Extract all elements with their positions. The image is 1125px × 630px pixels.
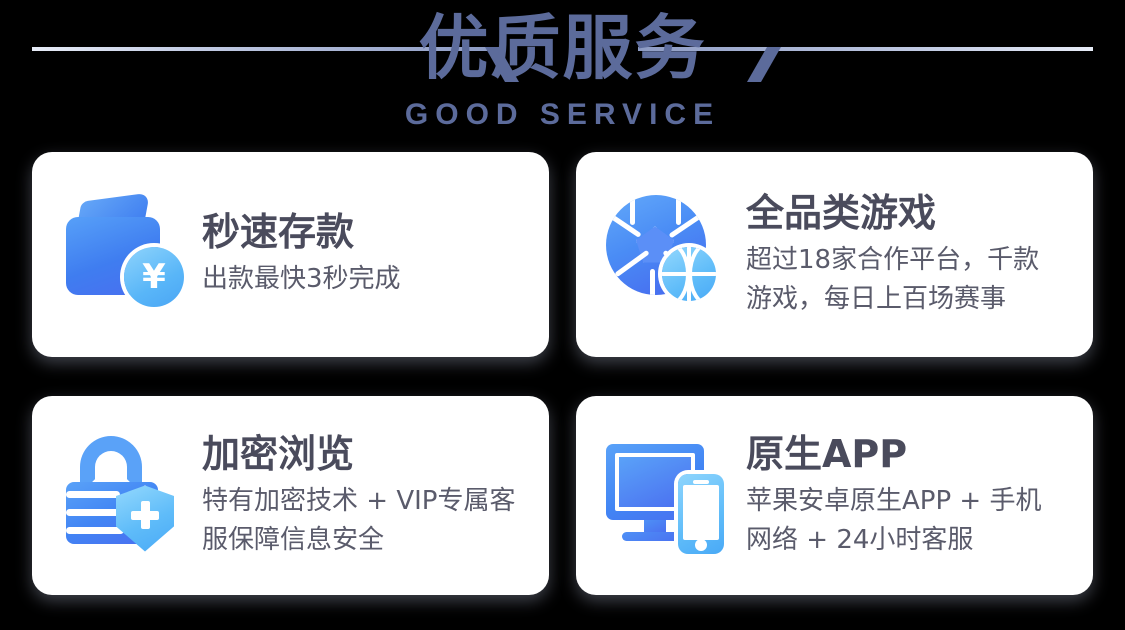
card-description-line-1: 特有加密技术 + VIP专属客 bbox=[202, 486, 515, 516]
card-description-line-1: 出款最快3秒完成 bbox=[202, 264, 401, 294]
card-title: 秒速存款 bbox=[202, 210, 539, 254]
basketball-icon bbox=[662, 247, 716, 301]
card-description-line-2: 游戏，每日上百场赛事 bbox=[746, 280, 1083, 319]
card-title: 全品类游戏 bbox=[746, 191, 1083, 235]
card-description: 苹果安卓原生APP + 手机 网络 + 24小时客服 bbox=[746, 482, 1083, 560]
card-text-block: 全品类游戏 超过18家合作平台，千款 游戏，每日上百场赛事 bbox=[746, 191, 1083, 319]
feature-card-native-app[interactable]: 原生APP 苹果安卓原生APP + 手机 网络 + 24小时客服 bbox=[576, 396, 1093, 595]
card-text-block: 加密浏览 特有加密技术 + VIP专属客 服保障信息安全 bbox=[202, 432, 539, 560]
phone-screen-icon bbox=[683, 485, 719, 540]
soccer-basketball-icon bbox=[604, 189, 736, 321]
feature-card-encryption[interactable]: 加密浏览 特有加密技术 + VIP专属客 服保障信息安全 bbox=[32, 396, 549, 595]
phone-home-button-icon bbox=[695, 539, 707, 551]
wallet-yen-icon: ¥ bbox=[60, 189, 192, 321]
basketball-arc-left-icon bbox=[662, 247, 690, 301]
page-header: 优质服务 GOOD SERVICE bbox=[0, 0, 1125, 146]
monitor-phone-icon bbox=[604, 430, 736, 562]
card-title: 原生APP bbox=[746, 432, 1083, 476]
feature-card-grid: ¥ 秒速存款 出款最快3秒完成 bbox=[32, 152, 1093, 595]
phone-icon bbox=[678, 474, 724, 554]
lock-line-1 bbox=[66, 491, 120, 498]
page-subtitle: GOOD SERVICE bbox=[0, 98, 1125, 132]
lock-shield-icon bbox=[60, 430, 192, 562]
card-description: 特有加密技术 + VIP专属客 服保障信息安全 bbox=[202, 482, 539, 560]
yen-coin-icon: ¥ bbox=[124, 247, 184, 307]
card-text-block: 秒速存款 出款最快3秒完成 bbox=[202, 210, 539, 299]
card-description: 超过18家合作平台，千款 游戏，每日上百场赛事 bbox=[746, 241, 1083, 319]
plus-icon bbox=[131, 501, 159, 529]
page-title: 优质服务 bbox=[0, 8, 1125, 88]
card-description-line-1: 苹果安卓原生APP + 手机 bbox=[746, 486, 1041, 516]
card-text-block: 原生APP 苹果安卓原生APP + 手机 网络 + 24小时客服 bbox=[746, 432, 1083, 560]
card-description-line-1: 超过18家合作平台，千款 bbox=[746, 245, 1039, 275]
lock-line-3 bbox=[66, 527, 124, 534]
feature-card-deposit[interactable]: ¥ 秒速存款 出款最快3秒完成 bbox=[32, 152, 549, 357]
card-description: 出款最快3秒完成 bbox=[202, 260, 539, 299]
card-description-line-2: 网络 + 24小时客服 bbox=[746, 521, 1083, 560]
card-title: 加密浏览 bbox=[202, 432, 539, 476]
phone-speaker-icon bbox=[693, 480, 709, 484]
basketball-arc-right-icon bbox=[688, 247, 716, 301]
card-description-line-2: 服保障信息安全 bbox=[202, 521, 539, 560]
feature-card-games[interactable]: 全品类游戏 超过18家合作平台，千款 游戏，每日上百场赛事 bbox=[576, 152, 1093, 357]
